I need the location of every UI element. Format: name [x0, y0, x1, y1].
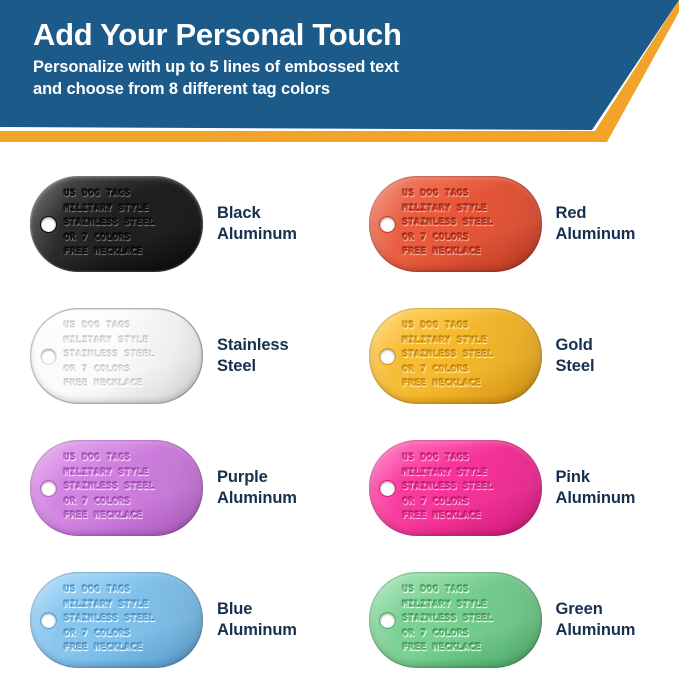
dog-tag-black-aluminum[interactable]: US DOG TAGSMILITARY STYLESTAINLESS STEEL… [30, 176, 203, 272]
engraving-line-1: US DOG TAGS [64, 451, 197, 466]
dog-tag-engraving: US DOG TAGSMILITARY STYLESTAINLESS STEEL… [403, 451, 536, 524]
tag-label-line-1: Gold [556, 335, 595, 356]
engraving-line-5: FREE NECKLACE [64, 245, 197, 260]
engraving-line-4: OR 7 COLORS [64, 495, 197, 510]
tag-label-line-2: Aluminum [217, 488, 297, 509]
engraving-line-5: FREE NECKLACE [64, 509, 197, 524]
tag-option-stainless-steel[interactable]: US DOG TAGSMILITARY STYLESTAINLESS STEEL… [0, 290, 340, 422]
dog-tag-engraving: US DOG TAGSMILITARY STYLESTAINLESS STEEL… [64, 187, 197, 260]
tag-option-black-aluminum[interactable]: US DOG TAGSMILITARY STYLESTAINLESS STEEL… [0, 158, 340, 290]
dog-tag-green-aluminum[interactable]: US DOG TAGSMILITARY STYLESTAINLESS STEEL… [369, 572, 542, 668]
tag-option-red-aluminum[interactable]: US DOG TAGSMILITARY STYLESTAINLESS STEEL… [340, 158, 679, 290]
banner-subtitle-line-1: Personalize with up to 5 lines of emboss… [33, 57, 553, 78]
tag-label-line-1: Blue [217, 599, 297, 620]
dog-tag-hole [380, 613, 395, 628]
tag-label-gold-steel: GoldSteel [556, 335, 595, 376]
engraving-line-1: US DOG TAGS [403, 583, 536, 598]
engraving-line-3: STAINLESS STEEL [64, 480, 197, 495]
dog-tag-blue-aluminum[interactable]: US DOG TAGSMILITARY STYLESTAINLESS STEEL… [30, 572, 203, 668]
dog-tag-face: US DOG TAGSMILITARY STYLESTAINLESS STEEL… [369, 572, 542, 668]
engraving-line-4: OR 7 COLORS [64, 363, 197, 378]
tag-label-line-2: Aluminum [556, 488, 636, 509]
dog-tag-hole [380, 481, 395, 496]
tag-option-purple-aluminum[interactable]: US DOG TAGSMILITARY STYLESTAINLESS STEEL… [0, 422, 340, 554]
tag-label-green-aluminum: GreenAluminum [556, 599, 636, 640]
engraving-line-4: OR 7 COLORS [64, 627, 197, 642]
tag-label-line-1: Red [556, 203, 636, 224]
tag-label-line-2: Aluminum [556, 620, 636, 641]
tag-option-pink-aluminum[interactable]: US DOG TAGSMILITARY STYLESTAINLESS STEEL… [340, 422, 679, 554]
tag-label-line-1: Black [217, 203, 297, 224]
dog-tag-engraving: US DOG TAGSMILITARY STYLESTAINLESS STEEL… [64, 583, 197, 656]
engraving-line-5: FREE NECKLACE [64, 377, 197, 392]
tag-option-green-aluminum[interactable]: US DOG TAGSMILITARY STYLESTAINLESS STEEL… [340, 554, 679, 686]
tag-label-purple-aluminum: PurpleAluminum [217, 467, 297, 508]
dog-tag-hole [380, 349, 395, 364]
dog-tag-hole [41, 217, 56, 232]
dog-tag-engraving: US DOG TAGSMILITARY STYLESTAINLESS STEEL… [403, 319, 536, 392]
engraving-line-4: OR 7 COLORS [403, 231, 536, 246]
engraving-line-1: US DOG TAGS [403, 187, 536, 202]
banner-text-block: Add Your Personal Touch Personalize with… [33, 18, 553, 100]
engraving-line-3: STAINLESS STEEL [403, 348, 536, 363]
dog-tag-hole [41, 349, 56, 364]
tag-label-line-2: Steel [217, 356, 289, 377]
tag-option-gold-steel[interactable]: US DOG TAGSMILITARY STYLESTAINLESS STEEL… [340, 290, 679, 422]
engraving-line-4: OR 7 COLORS [403, 495, 536, 510]
engraving-line-3: STAINLESS STEEL [403, 480, 536, 495]
engraving-line-1: US DOG TAGS [403, 451, 536, 466]
dog-tag-engraving: US DOG TAGSMILITARY STYLESTAINLESS STEEL… [403, 583, 536, 656]
engraving-line-5: FREE NECKLACE [403, 509, 536, 524]
engraving-line-2: MILITARY STYLE [403, 466, 536, 481]
engraving-line-4: OR 7 COLORS [64, 231, 197, 246]
banner-title: Add Your Personal Touch [33, 18, 553, 51]
engraving-line-3: STAINLESS STEEL [403, 612, 536, 627]
engraving-line-2: MILITARY STYLE [64, 598, 197, 613]
engraving-line-2: MILITARY STYLE [64, 466, 197, 481]
dog-tag-pink-aluminum[interactable]: US DOG TAGSMILITARY STYLESTAINLESS STEEL… [369, 440, 542, 536]
engraving-line-5: FREE NECKLACE [403, 245, 536, 260]
dog-tag-face: US DOG TAGSMILITARY STYLESTAINLESS STEEL… [30, 176, 203, 272]
dog-tag-face: US DOG TAGSMILITARY STYLESTAINLESS STEEL… [369, 176, 542, 272]
engraving-line-1: US DOG TAGS [403, 319, 536, 334]
dog-tag-stainless-steel[interactable]: US DOG TAGSMILITARY STYLESTAINLESS STEEL… [30, 308, 203, 404]
dog-tag-face: US DOG TAGSMILITARY STYLESTAINLESS STEEL… [30, 308, 203, 404]
engraving-line-3: STAINLESS STEEL [64, 348, 197, 363]
tag-color-grid: US DOG TAGSMILITARY STYLESTAINLESS STEEL… [0, 158, 679, 686]
engraving-line-4: OR 7 COLORS [403, 627, 536, 642]
tag-label-pink-aluminum: PinkAluminum [556, 467, 636, 508]
engraving-line-3: STAINLESS STEEL [403, 216, 536, 231]
engraving-line-2: MILITARY STYLE [64, 202, 197, 217]
dog-tag-gold-steel[interactable]: US DOG TAGSMILITARY STYLESTAINLESS STEEL… [369, 308, 542, 404]
dog-tag-face: US DOG TAGSMILITARY STYLESTAINLESS STEEL… [369, 440, 542, 536]
header-banner: Add Your Personal Touch Personalize with… [0, 0, 679, 150]
tag-label-stainless-steel: StainlessSteel [217, 335, 289, 376]
engraving-line-2: MILITARY STYLE [403, 202, 536, 217]
engraving-line-2: MILITARY STYLE [403, 598, 536, 613]
tag-label-blue-aluminum: BlueAluminum [217, 599, 297, 640]
dog-tag-hole [41, 481, 56, 496]
tag-label-line-1: Stainless [217, 335, 289, 356]
tag-label-line-2: Aluminum [556, 224, 636, 245]
dog-tag-hole [380, 217, 395, 232]
dog-tag-red-aluminum[interactable]: US DOG TAGSMILITARY STYLESTAINLESS STEEL… [369, 176, 542, 272]
engraving-line-1: US DOG TAGS [64, 319, 197, 334]
engraving-line-1: US DOG TAGS [64, 583, 197, 598]
engraving-line-5: FREE NECKLACE [403, 377, 536, 392]
engraving-line-2: MILITARY STYLE [64, 334, 197, 349]
tag-label-line-2: Aluminum [217, 224, 297, 245]
engraving-line-4: OR 7 COLORS [403, 363, 536, 378]
tag-label-line-1: Pink [556, 467, 636, 488]
dog-tag-face: US DOG TAGSMILITARY STYLESTAINLESS STEEL… [369, 308, 542, 404]
banner-subtitle: Personalize with up to 5 lines of emboss… [33, 57, 553, 99]
dog-tag-engraving: US DOG TAGSMILITARY STYLESTAINLESS STEEL… [64, 319, 197, 392]
engraving-line-3: STAINLESS STEEL [64, 612, 197, 627]
tag-label-line-2: Steel [556, 356, 595, 377]
dog-tag-face: US DOG TAGSMILITARY STYLESTAINLESS STEEL… [30, 440, 203, 536]
tag-option-blue-aluminum[interactable]: US DOG TAGSMILITARY STYLESTAINLESS STEEL… [0, 554, 340, 686]
tag-label-line-1: Purple [217, 467, 297, 488]
dog-tag-engraving: US DOG TAGSMILITARY STYLESTAINLESS STEEL… [64, 451, 197, 524]
dog-tag-purple-aluminum[interactable]: US DOG TAGSMILITARY STYLESTAINLESS STEEL… [30, 440, 203, 536]
dog-tag-engraving: US DOG TAGSMILITARY STYLESTAINLESS STEEL… [403, 187, 536, 260]
tag-label-line-1: Green [556, 599, 636, 620]
tag-label-red-aluminum: RedAluminum [556, 203, 636, 244]
tag-label-black-aluminum: BlackAluminum [217, 203, 297, 244]
engraving-line-3: STAINLESS STEEL [64, 216, 197, 231]
engraving-line-5: FREE NECKLACE [64, 641, 197, 656]
tag-label-line-2: Aluminum [217, 620, 297, 641]
engraving-line-2: MILITARY STYLE [403, 334, 536, 349]
engraving-line-1: US DOG TAGS [64, 187, 197, 202]
dog-tag-face: US DOG TAGSMILITARY STYLESTAINLESS STEEL… [30, 572, 203, 668]
engraving-line-5: FREE NECKLACE [403, 641, 536, 656]
dog-tag-hole [41, 613, 56, 628]
banner-subtitle-line-2: and choose from 8 different tag colors [33, 79, 553, 100]
